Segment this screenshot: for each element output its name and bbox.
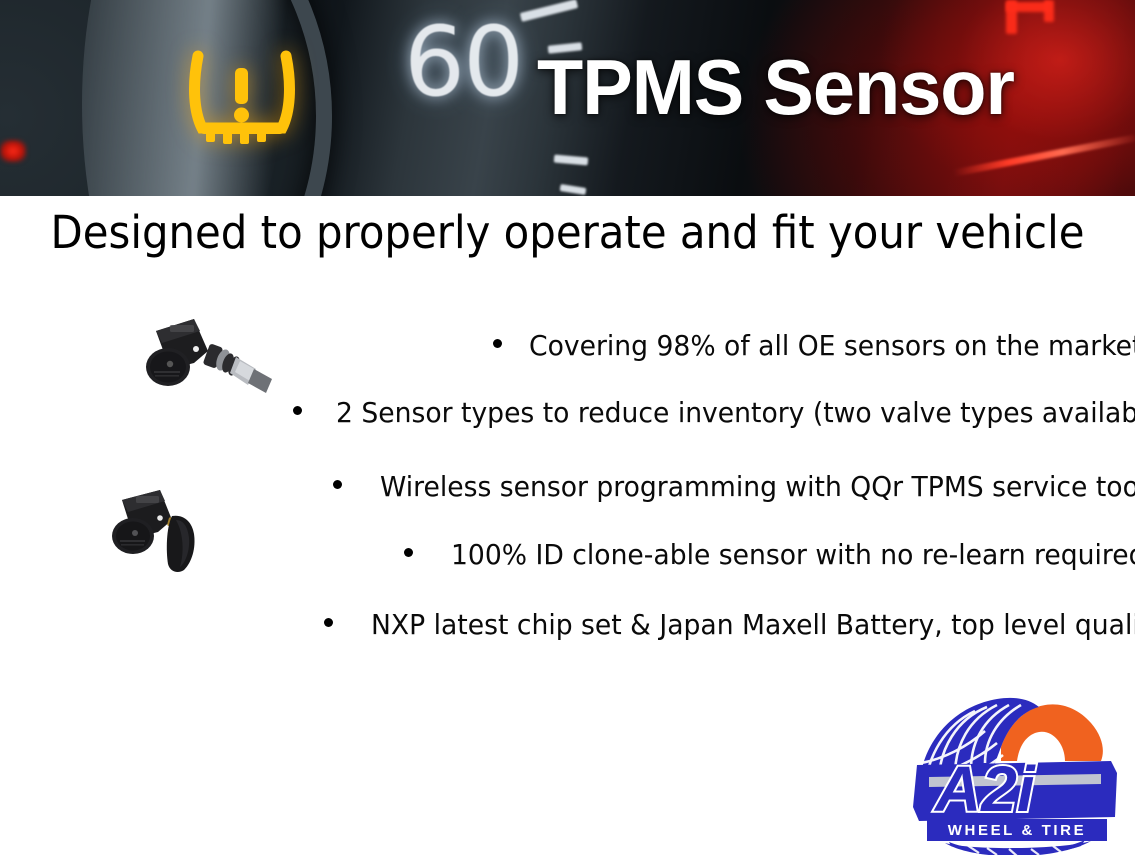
- bullet-dot-icon: [333, 480, 342, 489]
- feature-bullet-5: NXP latest chip set & Japan Maxell Batte…: [324, 608, 1135, 641]
- red-indicator-light: [0, 140, 26, 162]
- banner-title: TPMS Sensor: [537, 48, 1014, 126]
- feature-text: Wireless sensor programming with QQr TPM…: [380, 470, 1135, 503]
- feature-text: 2 Sensor types to reduce inventory (two …: [336, 396, 1135, 429]
- red-gauge-segment: [1044, 0, 1054, 22]
- bullet-dot-icon: [293, 406, 302, 415]
- bullet-dot-icon: [404, 548, 413, 557]
- tpms-warning-lamp-icon: [186, 42, 298, 150]
- bullet-dot-icon: [324, 618, 333, 627]
- tpms-sensor-product-slide: 60 TPMS Sensor Designed to properly oper…: [0, 0, 1135, 857]
- tpms-sensor-metal-valve-image: [130, 305, 290, 405]
- a2i-wheel-and-tire-logo: A2i WHEEL & TIRE: [905, 685, 1130, 855]
- logo-wordmark: A2i: [933, 753, 1036, 825]
- feature-bullet-4: 100% ID clone-able sensor with no re-lea…: [404, 538, 1135, 571]
- feature-bullet-1: Covering 98% of all OE sensors on the ma…: [493, 329, 1135, 362]
- speedometer-reading: 60: [404, 6, 522, 118]
- header-banner: 60 TPMS Sensor: [0, 0, 1135, 196]
- bullet-dot-icon: [493, 339, 502, 348]
- feature-bullet-3: Wireless sensor programming with QQr TPM…: [333, 470, 1135, 503]
- page-subtitle: Designed to properly operate and fit you…: [40, 206, 1096, 259]
- feature-text: 100% ID clone-able sensor with no re-lea…: [451, 538, 1135, 571]
- feature-bullet-2: 2 Sensor types to reduce inventory (two …: [293, 396, 1135, 429]
- logo-tagline: WHEEL & TIRE: [948, 822, 1086, 839]
- feature-text: NXP latest chip set & Japan Maxell Batte…: [371, 608, 1135, 641]
- tpms-sensor-rubber-valve-image: [100, 478, 245, 578]
- feature-text: Covering 98% of all OE sensors on the ma…: [529, 329, 1135, 362]
